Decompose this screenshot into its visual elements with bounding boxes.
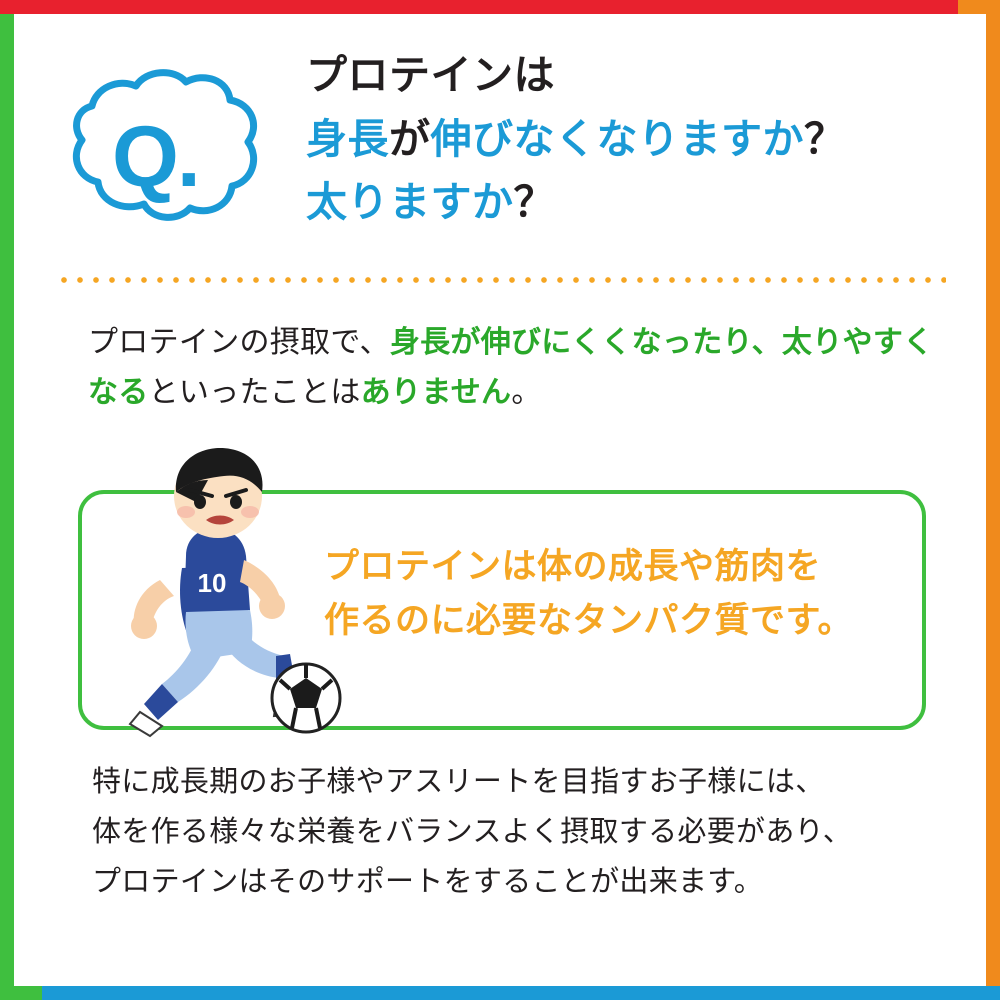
intro-seg-5: ありません [361,376,512,409]
question-line2-seg3: 伸びなくなりますか [431,116,805,162]
intro-paragraph: プロテインの摂取で、身長が伸びにくくなったり、太りやすくなるといったことはありま… [88,318,938,417]
question-line2-seg4: ？ [804,116,846,162]
closing-paragraph: 特に成長期のお子様やアスリートを目指すお子様には、 体を作る様々な栄養をバランス… [92,758,932,908]
question-line2-seg1: 身長 [306,116,389,162]
question-line3-seg1: 太りますか [306,179,514,225]
callout-text: プロテインは体の成長や筋肉を 作るのに必要なタンパク質です。 [324,540,914,649]
question-line1-text: プロテインは [306,52,555,98]
closing-line-2: 体を作る様々な栄養をバランスよく摂取する必要があり、 [92,808,932,858]
dotted-divider [56,277,946,283]
question-line-2: 身長が伸びなくなりますか？ [306,108,996,172]
question-block: Q. プロテインは 身長が伸びなくなりますか？ 太りますか？ [56,36,956,266]
callout-line-1: プロテインは体の成長や筋肉を [324,540,914,594]
frame-corner-bottom-left [0,986,42,1000]
jersey-number: 10 [198,568,227,598]
frame-corner-top-left [0,0,14,14]
intro-seg-4: といったことは [149,376,361,409]
question-badge-letter: Q. [112,108,199,207]
question-line-1: プロテインは [306,44,996,108]
question-line-3: 太りますか？ [306,171,996,235]
intro-seg-6: 。 [511,376,541,409]
frame-bar-top-red [0,0,958,14]
callout-line-2: 作るのに必要なタンパク質です。 [324,594,914,648]
closing-line-1: 特に成長期のお子様やアスリートを目指すお子様には、 [92,758,932,808]
question-text: プロテインは 身長が伸びなくなりますか？ 太りますか？ [306,44,996,235]
closing-line-3: プロテインはそのサポートをすることが出来ます。 [92,858,932,908]
infographic-page: Q. プロテインは 身長が伸びなくなりますか？ 太りますか？ プロテインの摂取で… [0,0,1000,1000]
question-line2-seg2: が [389,116,431,162]
frame-bar-left-green [0,14,14,1000]
intro-seg-1: プロテインの摂取で、 [88,326,390,359]
frame-bar-bottom-blue [42,986,1000,1000]
soccer-player-illustration: 10 [100,440,350,750]
intro-seg-2: 身長が伸びにくくなったり、 [390,326,782,359]
question-line3-seg2: ？ [514,179,556,225]
